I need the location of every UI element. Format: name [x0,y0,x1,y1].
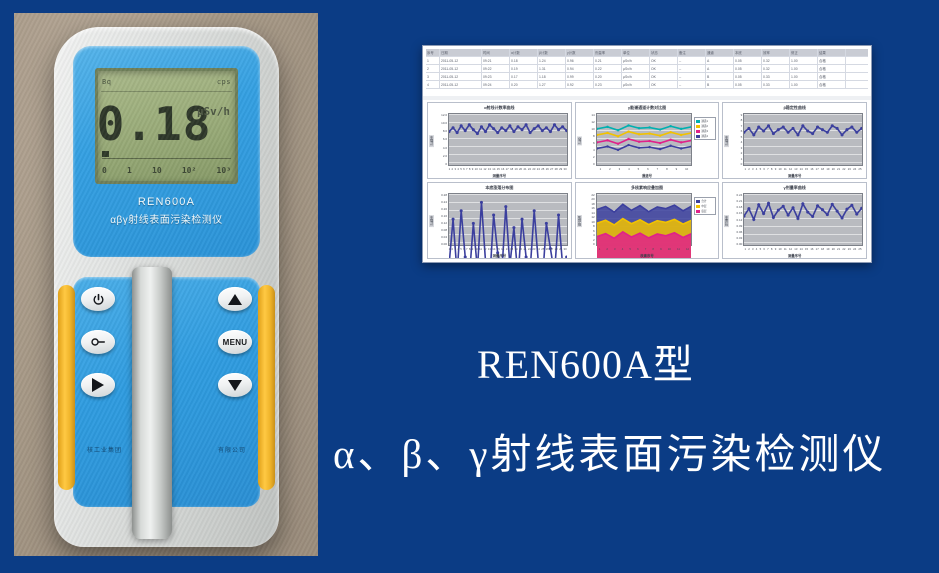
table-cell: 1.27 [538,81,566,88]
chart-data-point [606,132,608,134]
menu-button[interactable]: MENU [218,330,252,354]
lcd-scale-tick: 10 [152,166,162,175]
arrow-up-icon [228,294,242,305]
chart-data-point [545,126,548,129]
chart-y-tick: 0 [741,162,743,166]
device-handle [132,267,172,539]
panel-divider [423,96,871,100]
chart-legend-swatch [696,210,700,213]
chart-y-ticks: 0.240.210.180.150.120.090.060.030.00 [730,193,742,246]
chart-data-point [846,128,849,131]
table-cell: 0.20 [510,81,538,88]
chart-data-point [496,131,499,134]
table-cell: 0.05 [734,81,762,88]
chart-data-point [557,128,560,131]
table-cell: 09:21 [482,57,510,64]
chart-data-point [787,214,790,217]
chart-data-point [669,145,671,147]
table-cell: 0.18 [510,57,538,64]
chart-data-point [460,209,463,212]
chart-title: β稳定性曲线 [723,105,866,111]
chart-legend-label: 通道4 [701,134,708,138]
chart-card: γ能谱通道计数对比图计数14121086420通道1通道2通道3通道412345… [575,102,720,179]
table-cell: 0.99 [566,73,594,80]
power-icon [92,293,105,306]
chart-y-tick: 12 [591,215,594,219]
table-cell: 2011-05-12 [440,57,482,64]
chart-data-point [680,134,682,136]
chart-data-point [669,131,671,133]
table-row: 22011-05-1209:220.191.310.940.22µSv/hOK-… [426,65,868,73]
chart-data-point [826,131,829,134]
chart-title: γ剂量率曲线 [723,185,866,191]
lcd-status-bar: Bq cps [102,74,231,90]
chart-data-point [772,132,775,135]
table-cell: 0.05 [734,57,762,64]
chart-data-point [856,213,859,216]
chart-legend-item: 通道3 [696,129,714,133]
chart-data-point [792,206,795,209]
table-header-cell: 本底 [734,49,762,56]
chart-x-axis-label: 测量序号 [723,253,866,258]
chart-data-point [826,213,829,216]
table-header-cell: 效率 [762,49,790,56]
chart-data-point [851,204,854,207]
table-row: 42011-05-1209:240.201.270.920.23µSv/hOK-… [426,81,868,89]
table-cell: 合格 [818,81,846,88]
chart-data-point [777,128,780,131]
table-header-cell: γ计数 [566,49,594,56]
chart-legend: 通道1通道2通道3通道4 [694,117,716,140]
lcd-scale-tick: 10³ [217,166,231,175]
table-cell: 0.17 [510,73,538,80]
chart-y-tick: 12 [591,120,594,124]
power-button[interactable] [81,287,115,311]
table-cell: 0.32 [762,57,790,64]
chart-y-axis-label: 计数率 [429,214,434,226]
table-cell: µSv/h [622,65,650,72]
chart-card: α射线计数率曲线计数率12.010.08.06.04.02.0012345678… [427,102,572,179]
table-cell: 0.92 [566,81,594,88]
chart-data-point [816,126,819,129]
table-cell: 0.22 [594,65,622,72]
device-body: Bq cps 0.18 µSv/h 011010²10³ REN600A αβγ… [54,27,279,547]
chart-data-point [533,209,536,212]
device-faceplate-top: Bq cps 0.18 µSv/h 011010²10³ REN600A αβγ… [73,46,260,257]
table-header-cell: 修正 [790,49,818,56]
table-header-cell: 备注 [678,49,706,56]
chart-y-tick: 2 [741,151,743,155]
chart-data-point [807,129,810,132]
chart-y-tick: 0.00 [441,242,447,246]
table-cell: 09:22 [482,65,510,72]
chart-y-tick: 4 [593,148,595,152]
chart-data-point [831,124,834,127]
device-model-number: REN600A [73,196,260,208]
table-header-cell: 序号 [426,49,440,56]
chart-data-point [492,127,495,130]
chart-data-point [762,129,765,132]
lcd-bargraph [102,152,231,159]
table-header-cell: α计数 [510,49,538,56]
chart-y-tick: 0.24 [441,200,447,204]
chart-line-series [744,203,862,219]
chart-data-point [512,130,515,133]
chart-line-series [449,125,567,134]
chart-data-point [762,212,765,215]
chart-y-ticks: 14121086420 [583,113,595,166]
chart-plot-area [743,113,863,166]
chart-data-point [472,222,475,225]
chart-y-tick: 0.09 [736,224,742,228]
table-cell: 1.31 [538,65,566,72]
device-model-block: REN600A αβγ射线表面污染检测仪 [73,196,260,226]
chart-x-axis-label: 测量序号 [723,173,866,178]
table-cell: -- [678,73,706,80]
chart-data-point [856,131,859,134]
chart-y-tick: 12.0 [441,113,447,117]
chart-y-tick: 18 [591,202,594,206]
lcd-status-left: Bq [102,78,111,86]
chart-y-tick: 2 [593,238,595,242]
chart-card: β稳定性曲线计数率9876543210123456789101112131415… [722,102,867,179]
lcd-scale-tick: 0 [102,166,107,175]
lcd-reading-value: 0.18 [104,93,204,155]
chart-data-point [758,203,761,206]
chart-data-point [836,210,839,213]
chart-data-point [659,142,661,144]
chart-y-ticks: 12.010.08.06.04.02.00 [435,113,447,166]
chart-y-tick: 8 [593,224,595,228]
table-cell: 1 [426,57,440,64]
table-header-cell: 单位 [622,49,650,56]
chart-data-point [480,125,483,128]
table-cell: -- [678,65,706,72]
chart-y-tick: 0.00 [736,242,742,246]
chart-y-ticks: 0.280.240.200.160.120.080.040.00 [435,193,447,246]
chart-data-point [821,128,824,131]
chart-y-ticks: 9876543210 [730,113,742,166]
chart-card: 多核素响应叠加图响应值2220181614121086420合计中层底层1234… [575,182,720,259]
chart-data-point [816,204,819,207]
chart-data-point [484,130,487,133]
lcd-status-right: cps [217,78,231,86]
table-cell: 合格 [818,73,846,80]
device-model-chinese: αβγ射线表面污染检测仪 [73,211,260,226]
chart-data-point [616,129,618,131]
chart-data-point [748,127,751,130]
table-cell: 0.33 [762,73,790,80]
chart-data-point [638,140,640,142]
chart-legend-label: 合计 [701,199,706,203]
chart-data-point [753,218,756,221]
lcd-scale: 011010²10³ [102,163,231,178]
lcd-scale-tick: 1 [127,166,132,175]
chart-line-series [597,145,692,150]
chart-data-point [851,126,854,129]
chart-data-point [616,143,618,145]
chart-legend-item: 通道1 [696,119,714,123]
chart-data-point [841,216,844,219]
chart-legend-label: 通道2 [701,124,708,128]
table-cell: 1.00 [790,57,818,64]
chart-data-point [782,126,785,129]
down-button[interactable] [218,373,252,397]
chart-data-point [606,145,608,147]
table-cell: 合格 [818,65,846,72]
play-button[interactable] [81,373,115,397]
table-cell: 0.94 [566,65,594,72]
chart-data-point [557,213,560,216]
brand-right-text: 有限公司 [218,445,246,454]
chart-card: 本底涨落分布图计数率0.280.240.200.160.120.080.040.… [427,182,572,259]
chart-y-tick: 20 [591,197,594,201]
chart-data-point [508,124,511,127]
table-cell: 2011-05-12 [440,73,482,80]
chart-plot-area [596,193,693,246]
chart-y-tick: 0.12 [441,221,447,225]
table-header-cell: 日期 [440,49,482,56]
chart-data-point [659,148,661,150]
table-header-row: 序号日期时间α计数β计数γ计数剂量率单位状态备注通道本底效率修正结果 [426,49,868,57]
page-title-description: α、β、γ射线表面污染检测仪 [333,420,886,480]
chart-y-tick: 8 [593,134,595,138]
chart-y-tick: 0.21 [736,199,742,203]
page-title-model: REN600A型 [477,332,694,390]
brand-left-text: 核工业集团 [87,445,122,454]
chart-data-point [627,138,629,140]
chart-plot-area [448,113,568,166]
chart-legend-label: 底层 [701,209,706,213]
chart-data-point [512,226,515,229]
chart-y-tick: 0.20 [441,207,447,211]
table-cell: 0.23 [594,81,622,88]
chart-data-point [846,208,849,211]
chart-y-tick: 2.0 [443,154,447,158]
table-cell: µSv/h [622,57,650,64]
chart-legend: 合计中层底层 [694,197,716,215]
chart-x-axis-label: 测量序号 [428,173,571,178]
table-header-cell: 通道 [706,49,734,56]
lcd-bargraph-segment [102,151,109,157]
chart-title: γ能谱通道计数对比图 [576,105,719,111]
chart-plot-area [596,113,693,166]
data-table: 序号日期时间α计数β计数γ计数剂量率单位状态备注通道本底效率修正结果12011-… [426,49,868,93]
chart-y-tick: 7 [741,124,743,128]
chart-legend-label: 通道1 [701,119,708,123]
chart-y-ticks: 2220181614121086420 [583,193,595,246]
chart-y-tick: 4 [741,140,743,144]
chart-y-tick: 6.0 [443,137,447,141]
chart-data-point [627,144,629,146]
chart-data-point [767,124,770,127]
chart-data-point [782,205,785,208]
chart-legend-item: 通道2 [696,124,714,128]
chart-legend-swatch [696,205,700,208]
chart-y-tick: 3 [741,146,743,150]
chart-y-tick: 4.0 [443,146,447,150]
table-header-cell: 结果 [818,49,846,56]
chart-data-point [460,124,463,127]
chart-y-tick: 9 [741,113,743,117]
grip-right-icon [258,285,275,490]
chart-data-point [680,147,682,149]
chart-y-tick: 4 [593,233,595,237]
chart-data-point [792,127,795,130]
chart-data-point [841,133,844,136]
chart-data-point [464,129,467,132]
chart-x-axis-label: 核素序号 [576,253,719,258]
lcd-reading-unit: µSv/h [197,105,230,118]
table-header-cell: 时间 [482,49,510,56]
search-icon [91,336,106,348]
chart-data-point [533,127,536,130]
chart-data-point [659,128,661,130]
chart-data-point [767,202,770,205]
chart-y-axis-label: 响应值 [577,214,582,226]
chart-data-point [606,139,608,141]
chart-data-point [480,201,483,204]
chart-legend-item: 合计 [696,199,714,203]
chart-y-tick: 0.28 [441,193,447,197]
chart-data-point [616,135,618,137]
chart-data-point [537,124,540,127]
chart-data-point [638,133,640,135]
chart-data-point [807,211,810,214]
table-cell: 1.24 [538,57,566,64]
chart-data-point [488,123,491,126]
chart-data-point [627,124,629,126]
chart-x-axis-label: 通道号 [576,173,719,178]
table-cell: -- [678,81,706,88]
chart-y-tick: 16 [591,206,594,210]
table-cell: 1.00 [790,65,818,72]
chart-legend-label: 中层 [701,204,706,208]
chart-y-tick: 14 [591,211,594,215]
chart-data-point [553,123,556,126]
chart-plot-area [448,193,568,246]
table-cell: -- [678,57,706,64]
chart-data-point [549,130,552,133]
chart-data-point [748,207,751,210]
chart-data-point [758,126,761,129]
chart-y-axis-label: 剂量率 [724,214,729,226]
chart-y-axis-label: 计数率 [724,134,729,146]
table-cell: 0.05 [734,65,762,72]
chart-legend-swatch [696,120,700,123]
chart-data-point [680,141,682,143]
chart-legend-swatch [696,135,700,138]
chart-y-tick: 10 [591,127,594,131]
table-cell: 1.18 [538,73,566,80]
table-cell: 09:23 [482,73,510,80]
table-header-cell: 剂量率 [594,49,622,56]
chart-y-axis-label: 计数率 [429,134,434,146]
table-cell: 4 [426,81,440,88]
chart-data-point [452,126,455,129]
chart-y-tick: 0.03 [736,236,742,240]
table-cell: 1.00 [790,73,818,80]
table-cell: 0.32 [762,65,790,72]
chart-data-point [638,147,640,149]
table-cell: 0.96 [566,57,594,64]
chart-data-point [787,131,790,134]
chart-y-tick: 6 [741,129,743,133]
chart-data-point [802,124,805,127]
chart-y-tick: 0.16 [441,214,447,218]
table-cell: OK [650,73,678,80]
chart-y-tick: 1 [741,157,743,161]
chart-data-point [811,215,814,218]
chart-legend-swatch [696,200,700,203]
chart-data-point [821,208,824,211]
chart-legend-swatch [696,125,700,128]
chart-data-point [638,127,640,129]
chart-y-tick: 0.12 [736,218,742,222]
chart-data-point [648,140,650,142]
chart-data-point [831,203,834,206]
lcd-scale-tick: 10² [182,166,196,175]
table-cell: 09:24 [482,81,510,88]
table-cell: 0.05 [734,73,762,80]
chart-data-point [504,205,507,208]
table-cell: 合格 [818,57,846,64]
chart-data-point [545,222,548,225]
chart-data-point [669,125,671,127]
lcd-divider [101,91,232,92]
up-button[interactable] [218,287,252,311]
grip-left-icon [58,285,75,490]
chart-data-point [680,128,682,130]
play-icon [92,378,104,392]
chart-data-point [529,131,532,134]
search-button[interactable] [81,330,115,354]
chart-data-point [648,126,650,128]
chart-y-tick: 6 [593,141,595,145]
chart-data-point [468,123,471,126]
chart-data-point [520,128,523,131]
chart-line-series [597,132,692,137]
table-cell: OK [650,65,678,72]
chart-y-tick: 0.08 [441,228,447,232]
chart-y-tick: 0.04 [441,235,447,239]
chart-data-point [606,126,608,128]
chart-data-point [561,125,564,128]
table-cell: A [706,57,734,64]
chart-y-tick: 0 [593,242,595,246]
chart-data-point [797,133,800,136]
table-cell: 0.33 [762,81,790,88]
chart-y-tick: 0 [445,162,447,166]
table-cell: 2 [426,65,440,72]
chart-y-tick: 10 [591,220,594,224]
device-brand-row: 核工业集团 有限公司 [73,445,260,454]
chart-x-axis-label: 测量序号 [428,253,571,258]
chart-data-point [541,129,544,132]
chart-data-point [504,129,507,132]
chart-legend-swatch [696,130,700,133]
chart-y-tick: 6 [593,229,595,233]
table-row: 12011-05-1209:210.181.240.960.21µSv/hOK-… [426,57,868,65]
chart-y-tick: 14 [591,113,594,117]
chart-line-series [597,139,692,144]
table-cell: OK [650,57,678,64]
arrow-down-icon [228,380,242,391]
chart-legend-label: 通道3 [701,129,708,133]
chart-data-point [476,132,479,135]
chart-data-point [500,126,503,129]
chart-y-tick: 5 [741,135,743,139]
